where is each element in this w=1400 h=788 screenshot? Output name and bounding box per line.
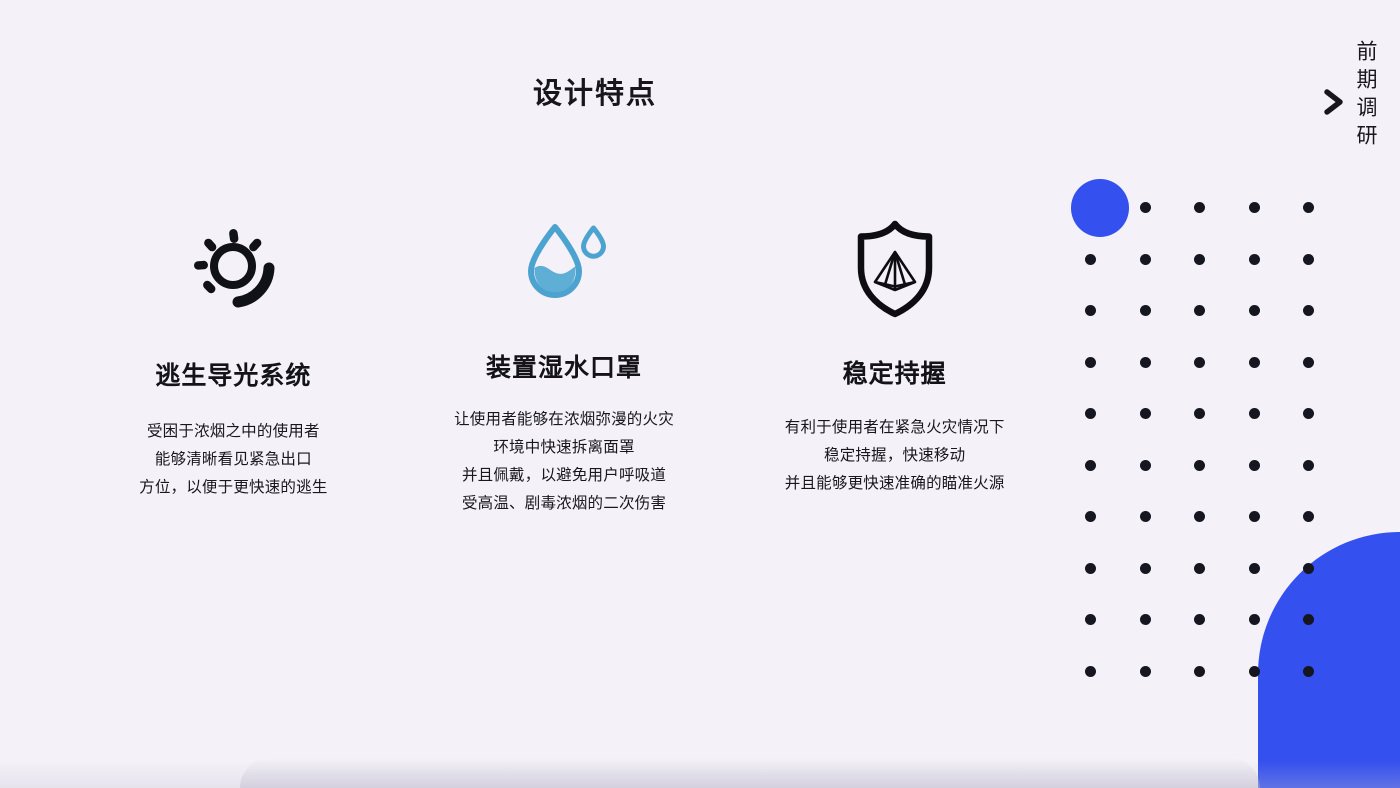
sun-brightness-icon — [185, 222, 281, 318]
section-tag-label: 前期调研 — [1355, 38, 1376, 152]
slide-root: 设计特点 前期调研 — [0, 0, 1400, 788]
decor-dot — [1303, 408, 1314, 419]
decor-dot — [1085, 666, 1096, 677]
decor-dot — [1194, 460, 1205, 471]
feature-card-description: 受困于浓烟之中的使用者 能够清晰看见紧急出口 方位，以便于更快速的逃生 — [139, 418, 327, 502]
decor-dot — [1140, 254, 1151, 265]
decor-dot — [1303, 202, 1314, 213]
decor-dot — [1249, 511, 1260, 522]
shield-pyramid-icon — [845, 220, 945, 316]
decor-dot — [1140, 202, 1151, 213]
decor-dot — [1249, 305, 1260, 316]
decor-dot — [1085, 511, 1096, 522]
decor-dot — [1194, 305, 1205, 316]
decor-dot — [1303, 563, 1314, 574]
decor-dot — [1303, 254, 1314, 265]
decor-dot — [1085, 460, 1096, 471]
decor-dot — [1140, 460, 1151, 471]
decor-dot — [1085, 357, 1096, 368]
decor-dot — [1249, 202, 1260, 213]
section-tag[interactable]: 前期调研 — [1313, 38, 1376, 152]
decor-dot — [1085, 254, 1096, 265]
decor-dot — [1303, 460, 1314, 471]
decor-dot — [1140, 408, 1151, 419]
decor-dot — [1249, 408, 1260, 419]
decor-dot — [1085, 614, 1096, 625]
decor-dot — [1194, 666, 1205, 677]
feature-card-description: 让使用者能够在浓烟弥漫的火灾 环境中快速拆离面罩 并且佩戴，以避免用户呼吸道 受… — [454, 406, 674, 518]
decor-dot — [1303, 666, 1314, 677]
water-drop-icon — [514, 216, 614, 312]
feature-card[interactable]: 稳定持握 有利于使用者在紧急火灾情况下 稳定持握，快速移动 并且能够更快速准确的… — [729, 220, 1060, 518]
decor-dot — [1303, 357, 1314, 368]
decor-dot — [1194, 254, 1205, 265]
feature-card-list: 逃生导光系统 受困于浓烟之中的使用者 能够清晰看见紧急出口 方位，以便于更快速的… — [0, 222, 1060, 518]
decor-dot — [1140, 614, 1151, 625]
feature-card-title: 装置湿水口罩 — [486, 348, 642, 384]
decor-dot — [1194, 408, 1205, 419]
slide-bottom-shadow — [0, 742, 1400, 788]
decor-dot — [1140, 357, 1151, 368]
decor-dot — [1194, 202, 1205, 213]
decor-dot — [1085, 563, 1096, 574]
decor-dot — [1140, 305, 1151, 316]
decor-dot — [1249, 666, 1260, 677]
feature-card-title: 逃生导光系统 — [155, 356, 311, 392]
page-title: 设计特点 — [0, 70, 1190, 112]
feature-card[interactable]: 逃生导光系统 受困于浓烟之中的使用者 能够清晰看见紧急出口 方位，以便于更快速的… — [68, 222, 399, 518]
decor-dot — [1303, 614, 1314, 625]
decor-dot — [1140, 563, 1151, 574]
decor-dot — [1249, 614, 1260, 625]
decor-dot — [1194, 614, 1205, 625]
decor-dot — [1249, 357, 1260, 368]
decor-dot — [1303, 511, 1314, 522]
decor-accent-circle — [1071, 179, 1129, 237]
feature-card[interactable]: 装置湿水口罩 让使用者能够在浓烟弥漫的火灾 环境中快速拆离面罩 并且佩戴，以避免… — [399, 216, 730, 518]
decor-dot — [1194, 357, 1205, 368]
decor-blue-rounded-shape — [1258, 532, 1400, 788]
decor-dot — [1140, 511, 1151, 522]
decor-dot — [1249, 254, 1260, 265]
feature-card-description: 有利于使用者在紧急火灾情况下 稳定持握，快速移动 并且能够更快速准确的瞄准火源 — [785, 414, 1005, 498]
decor-dot — [1303, 305, 1314, 316]
decor-dot — [1194, 511, 1205, 522]
decor-dot — [1249, 563, 1260, 574]
chevron-right-icon[interactable] — [1313, 76, 1355, 128]
feature-card-title: 稳定持握 — [843, 354, 947, 390]
decor-dot — [1085, 408, 1096, 419]
decor-dot — [1249, 460, 1260, 471]
decor-dot — [1194, 563, 1205, 574]
decor-dot — [1140, 666, 1151, 677]
decor-dot — [1085, 305, 1096, 316]
